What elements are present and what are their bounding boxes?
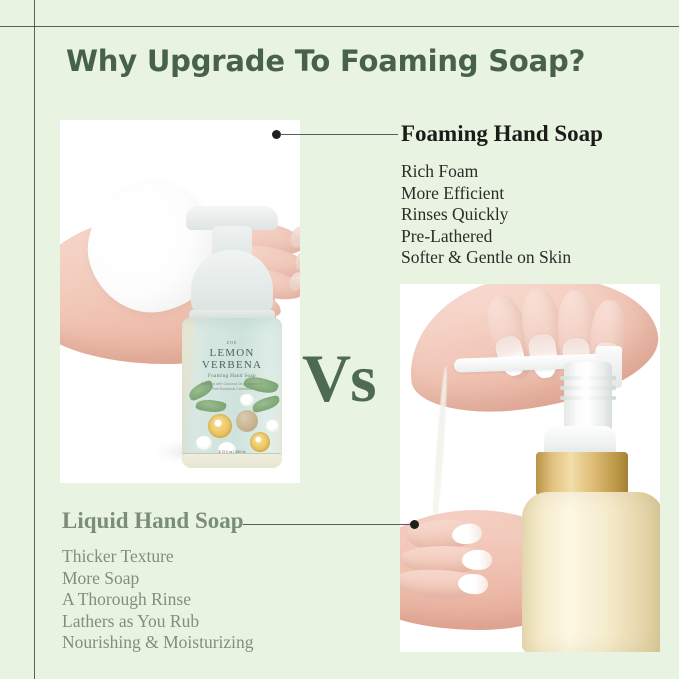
foaming-heading: Foaming Hand Soap <box>401 121 603 147</box>
seed-pod-art <box>236 410 258 432</box>
benefit-item: A Thorough Rinse <box>62 589 254 611</box>
bottle-name-line1: LEMON <box>182 347 282 359</box>
bottle-name-line2: VERBENA <box>182 359 282 371</box>
benefit-item: Softer & Gentle on Skin <box>401 247 571 269</box>
benefit-item: Rich Foam <box>401 161 571 183</box>
lemon-slice-art <box>250 432 270 452</box>
benefit-item: Nourishing & Moisturizing <box>62 632 254 654</box>
pump-dome <box>191 250 273 316</box>
benefit-item: More Soap <box>62 568 254 590</box>
leaf-art <box>251 395 281 413</box>
bottle-brand-text: ZOE <box>182 340 282 345</box>
blossom-art <box>266 420 279 432</box>
foaming-soap-bottle: ZOE LEMON VERBENA Foaming Hand Soap Enri… <box>178 206 286 468</box>
gold-collar <box>536 452 628 496</box>
connector-line-foaming <box>280 134 398 135</box>
benefit-item: Rinses Quickly <box>401 204 571 226</box>
page-title: Why Upgrade To Foaming Soap? <box>66 44 585 78</box>
left-frame-rule <box>34 0 35 679</box>
pump-ridge <box>560 376 616 380</box>
leaf-art <box>195 397 227 414</box>
fingernail <box>462 549 493 570</box>
benefit-item: Lathers as You Rub <box>62 611 254 633</box>
bottle-fineprint-line2: Pure Botanical Collection <box>182 387 282 392</box>
liquid-benefit-list: Thicker Texture More Soap A Thorough Rin… <box>62 546 254 654</box>
pump-ridge <box>560 386 616 390</box>
lemon-slice-art <box>208 414 232 438</box>
liquid-heading: Liquid Hand Soap <box>62 508 244 534</box>
bottle-fineprint-text: Enriched with Coconut Oil & Jojoba Oil P… <box>182 382 282 392</box>
blossom-art <box>240 394 254 406</box>
bottle-body: ZOE LEMON VERBENA Foaming Hand Soap Enri… <box>182 318 282 468</box>
bottle-base <box>182 453 282 468</box>
bottle-subtitle-text: Foaming Hand Soap <box>182 374 282 379</box>
infographic-canvas: Why Upgrade To Foaming Soap? <box>0 0 679 679</box>
liquid-hand-soap-photo <box>400 284 660 652</box>
foaming-hand-soap-photo: ZOE LEMON VERBENA Foaming Hand Soap Enri… <box>60 120 300 483</box>
connector-line-liquid <box>243 524 415 525</box>
liquid-soap-bottle-body <box>522 492 660 652</box>
benefit-item: Thicker Texture <box>62 546 254 568</box>
foaming-benefit-list: Rich Foam More Efficient Rinses Quickly … <box>401 161 571 269</box>
bottle-name-text: LEMON VERBENA <box>182 347 282 371</box>
benefit-item: Pre-Lathered <box>401 226 571 248</box>
connector-dot-liquid <box>410 520 419 529</box>
versus-label: Vs <box>302 344 376 412</box>
blossom-art <box>196 436 212 450</box>
benefit-item: More Efficient <box>401 183 571 205</box>
pump-ridge <box>560 396 616 400</box>
top-frame-rule <box>0 26 679 27</box>
